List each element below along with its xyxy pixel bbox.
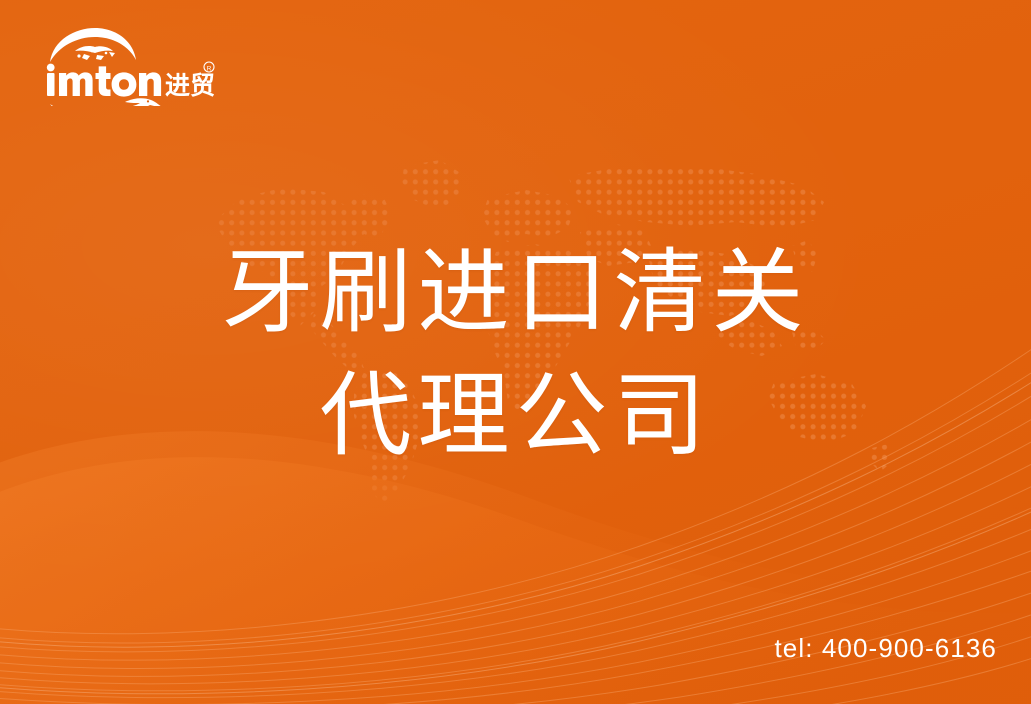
- registered-mark-icon: R: [204, 62, 214, 72]
- contact-phone: tel: 400-900-6136: [774, 633, 997, 664]
- company-logo[interactable]: 进贸通 R: [37, 26, 215, 106]
- title-line-2: 代理公司: [0, 355, 1031, 478]
- logo-wordmark: [47, 64, 161, 97]
- globe-arc-icon: [50, 28, 136, 62]
- promo-banner: 进贸通 R 牙刷进口清关 代理公司 tel: 400-900-6136: [0, 0, 1031, 704]
- title-line-1: 牙刷进口清关: [0, 232, 1031, 355]
- logo-chinese-name: 进贸通: [165, 71, 215, 100]
- page-title: 牙刷进口清关 代理公司: [0, 232, 1031, 478]
- swoosh-bird-icon: [50, 98, 162, 106]
- svg-text:R: R: [207, 65, 212, 72]
